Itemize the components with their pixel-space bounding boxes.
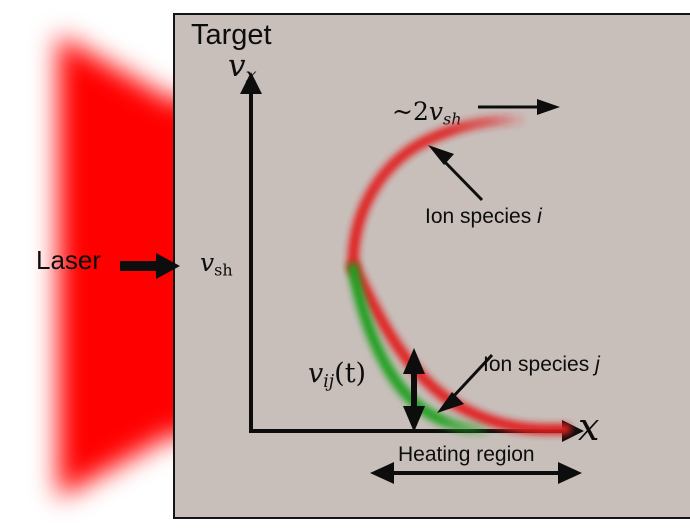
ion-species-j-label: Ion species j [483,353,600,377]
relative-velocity-label: vij(t) [308,358,366,392]
ion-species-i-symbol: i [537,205,542,228]
y-axis-label-subscript: x [246,64,257,87]
relative-velocity-symbol: v [308,358,323,389]
ion-species-j-text: Ion species [483,353,595,376]
y-axis-label-symbol: v [228,48,246,84]
y-axis-label: vx [228,48,257,87]
heating-region-label: Heating region [398,443,535,467]
shock-velocity-symbol: v [200,248,214,277]
figure-canvas: Laser Target [0,0,690,532]
shock-velocity-label: vsh [200,248,233,279]
relative-velocity-subscript: ij [323,372,334,392]
x-axis-label-symbol: x [578,405,599,449]
peak-velocity-label: ~2vsh [392,97,462,128]
ion-species-i-label: Ion species i [425,205,542,229]
y-axis-line [249,88,253,433]
x-axis-line [249,429,574,433]
ion-species-j-symbol: j [595,353,600,376]
laser-label: Laser [36,245,101,276]
shock-velocity-subscript: sh [214,260,233,279]
ion-species-i-text: Ion species [425,205,537,228]
laser-direction-arrow-icon [120,250,180,282]
peak-velocity-prefix: ~2 [392,97,429,126]
peak-velocity-subscript: sh [443,109,462,128]
relative-velocity-arg: (t) [334,358,366,389]
peak-velocity-symbol: v [429,97,443,126]
x-axis-label: x [578,405,599,449]
